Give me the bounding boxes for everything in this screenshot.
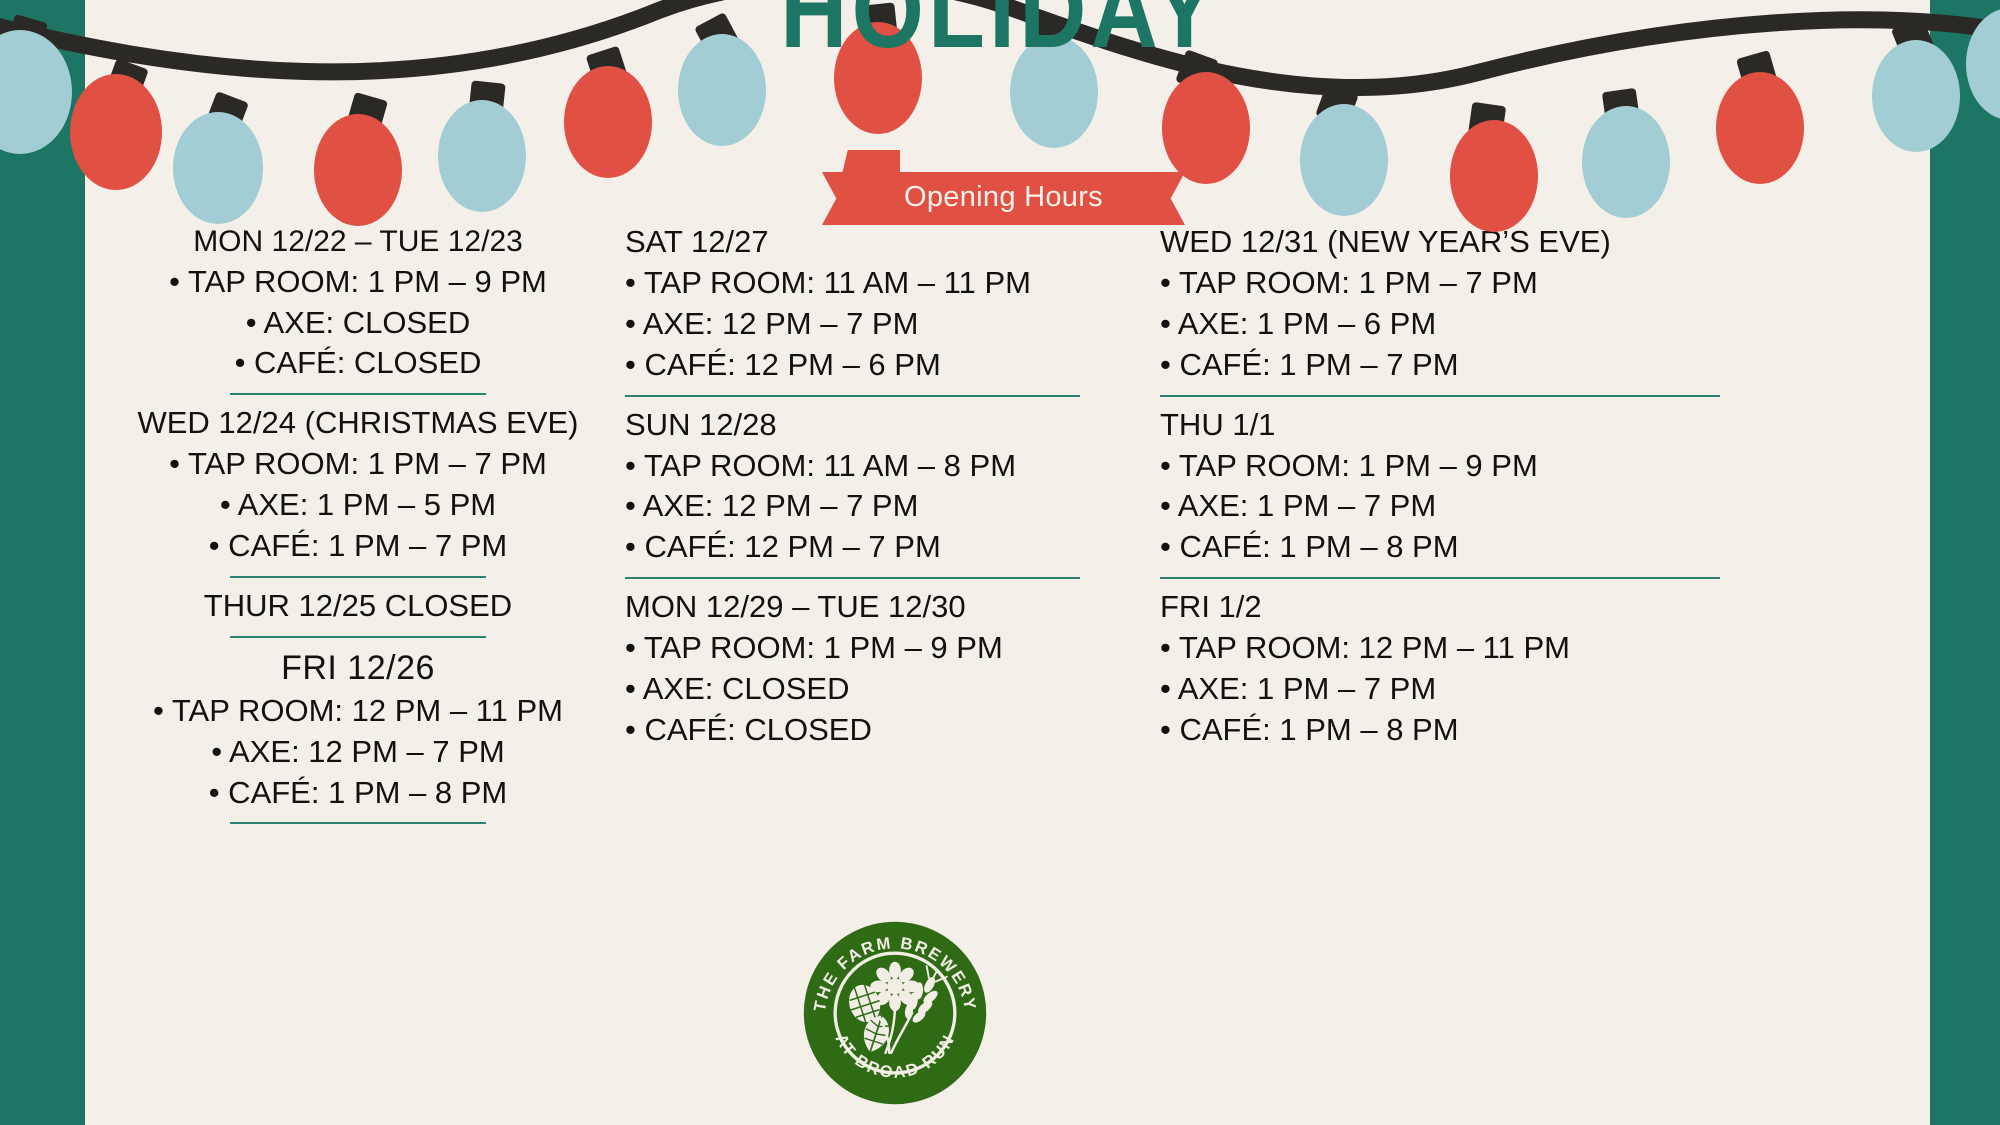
bulb-14	[1716, 50, 1804, 184]
schedule-block: FRI 1/2• TAP ROOM: 12 PM – 11 PM• AXE: 1…	[1160, 587, 1720, 751]
schedule-hours-line: • AXE: CLOSED	[625, 669, 1080, 710]
schedule-hours-line: • AXE: CLOSED	[112, 303, 604, 344]
schedule-column-2: SAT 12/27• TAP ROOM: 11 AM – 11 PM• AXE:…	[625, 222, 1080, 751]
schedule-hours-line: • TAP ROOM: 12 PM – 11 PM	[112, 691, 604, 732]
bulb-12	[1450, 102, 1538, 232]
bulb-13	[1582, 88, 1670, 218]
page-title: HOLIDAY	[140, 0, 1860, 64]
bulb-15	[1872, 17, 1960, 152]
brewery-logo: THE FARM BREWERY AT BROAD RUN	[800, 918, 990, 1108]
bulb-2	[70, 58, 162, 190]
schedule-hours-line: • TAP ROOM: 1 PM – 9 PM	[112, 262, 604, 303]
bulb-5	[438, 80, 526, 212]
schedule-block: SAT 12/27• TAP ROOM: 11 AM – 11 PM• AXE:…	[625, 222, 1080, 386]
schedule-date-header: FRI 12/26	[112, 646, 604, 691]
section-divider	[230, 393, 486, 395]
schedule-block: FRI 12/26• TAP ROOM: 12 PM – 11 PM• AXE:…	[112, 646, 604, 814]
schedule-hours-line: • TAP ROOM: 1 PM – 7 PM	[1160, 263, 1720, 304]
schedule-column-1: MON 12/22 – TUE 12/23• TAP ROOM: 1 PM – …	[112, 222, 604, 832]
section-divider	[1160, 395, 1720, 397]
schedule-block: WED 12/24 (CHRISTMAS EVE)• TAP ROOM: 1 P…	[112, 403, 604, 567]
schedule-hours-line: • TAP ROOM: 11 AM – 8 PM	[625, 446, 1080, 487]
schedule-hours-line: • TAP ROOM: 1 PM – 9 PM	[625, 628, 1080, 669]
bulb-11	[1300, 83, 1388, 216]
schedule-hours-line: • AXE: 1 PM – 6 PM	[1160, 304, 1720, 345]
schedule-hours-line: • AXE: 1 PM – 7 PM	[1160, 486, 1720, 527]
schedule-date-header: MON 12/29 – TUE 12/30	[625, 587, 1080, 628]
schedule-hours-line: • CAFÉ: 1 PM – 8 PM	[1160, 710, 1720, 751]
schedule-date-header: THUR 12/25 CLOSED	[112, 586, 604, 627]
schedule-hours-line: • TAP ROOM: 1 PM – 9 PM	[1160, 446, 1720, 487]
section-divider	[230, 822, 486, 824]
ribbon-tail	[842, 150, 900, 174]
schedule-hours-line: • AXE: 12 PM – 7 PM	[625, 486, 1080, 527]
schedule-block: WED 12/31 (NEW YEAR’S EVE)• TAP ROOM: 1 …	[1160, 222, 1720, 386]
bulb-3	[173, 91, 263, 224]
section-divider	[625, 395, 1080, 397]
schedule-hours-line: • CAFÉ: 12 PM – 6 PM	[625, 345, 1080, 386]
schedule-date-header: FRI 1/2	[1160, 587, 1720, 628]
schedule-hours-line: • AXE: 1 PM – 5 PM	[112, 485, 604, 526]
schedule-hours-line: • CAFÉ: 1 PM – 7 PM	[1160, 345, 1720, 386]
schedule-hours-line: • CAFÉ: CLOSED	[625, 710, 1080, 751]
schedule-hours-line: • TAP ROOM: 1 PM – 7 PM	[112, 444, 604, 485]
schedule-hours-line: • AXE: 1 PM – 7 PM	[1160, 669, 1720, 710]
section-divider	[230, 576, 486, 578]
bulb-6	[564, 46, 652, 178]
schedule-columns: MON 12/22 – TUE 12/23• TAP ROOM: 1 PM – …	[85, 222, 1930, 882]
schedule-column-3: WED 12/31 (NEW YEAR’S EVE)• TAP ROOM: 1 …	[1160, 222, 1720, 751]
schedule-hours-line: • CAFÉ: 1 PM – 8 PM	[112, 773, 604, 814]
section-divider	[1160, 577, 1720, 579]
schedule-date-header: THU 1/1	[1160, 405, 1720, 446]
section-divider	[230, 636, 486, 638]
ribbon-label: Opening Hours	[848, 172, 1159, 225]
schedule-hours-line: • CAFÉ: 12 PM – 7 PM	[625, 527, 1080, 568]
opening-hours-ribbon: Opening Hours	[848, 172, 1159, 225]
section-divider	[625, 577, 1080, 579]
schedule-block: THUR 12/25 CLOSED	[112, 586, 604, 627]
poster-canvas: HOLIDAY Opening Hours MON 12/22 – TUE 12…	[0, 0, 2000, 1125]
bulb-4	[314, 92, 402, 226]
schedule-block: MON 12/29 – TUE 12/30• TAP ROOM: 1 PM – …	[625, 587, 1080, 751]
schedule-date-header: WED 12/24 (CHRISTMAS EVE)	[112, 403, 604, 444]
schedule-hours-line: • AXE: 12 PM – 7 PM	[625, 304, 1080, 345]
schedule-block: SUN 12/28• TAP ROOM: 11 AM – 8 PM• AXE: …	[625, 405, 1080, 569]
schedule-date-header: SUN 12/28	[625, 405, 1080, 446]
schedule-hours-line: • CAFÉ: CLOSED	[112, 343, 604, 384]
schedule-hours-line: • TAP ROOM: 12 PM – 11 PM	[1160, 628, 1720, 669]
schedule-hours-line: • AXE: 12 PM – 7 PM	[112, 732, 604, 773]
schedule-block: THU 1/1• TAP ROOM: 1 PM – 9 PM• AXE: 1 P…	[1160, 405, 1720, 569]
schedule-hours-line: • CAFÉ: 1 PM – 8 PM	[1160, 527, 1720, 568]
schedule-hours-line: • CAFÉ: 1 PM – 7 PM	[112, 526, 604, 567]
schedule-block: MON 12/22 – TUE 12/23• TAP ROOM: 1 PM – …	[112, 222, 604, 384]
schedule-hours-line: • TAP ROOM: 11 AM – 11 PM	[625, 263, 1080, 304]
